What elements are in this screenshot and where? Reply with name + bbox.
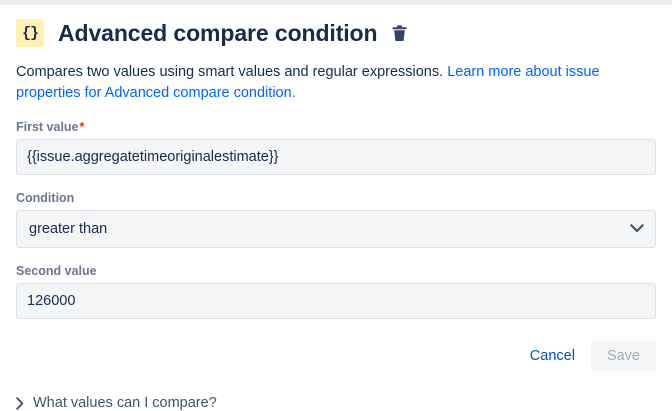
panel-header: {} Advanced compare condition [16,16,656,50]
save-button[interactable]: Save [591,341,656,371]
first-value-input-value: {{issue.aggregatetimeoriginalestimate}} [27,149,279,165]
first-value-field: First value* {{issue.aggregatetimeorigin… [16,120,656,175]
page-title: Advanced compare condition [58,20,377,47]
braces-glyph: {} [22,25,38,42]
condition-select[interactable]: greater than [16,210,656,248]
second-value-label: Second value [16,264,656,278]
second-value-input[interactable]: 126000 [16,283,656,319]
panel-description: Compares two values using smart values a… [16,62,656,104]
what-values-expander[interactable]: What values can I compare? [16,395,656,411]
condition-label: Condition [16,191,656,205]
description-text: Compares two values using smart values a… [16,64,447,80]
second-value-input-value: 126000 [27,293,75,309]
expander-label: What values can I compare? [33,395,217,411]
condition-select-wrapper: greater than [16,210,656,248]
condition-field: Condition greater than [16,191,656,248]
form-actions: Cancel Save [16,341,656,371]
first-value-label: First value* [16,120,656,134]
smart-value-braces-icon: {} [16,19,44,47]
cancel-button[interactable]: Cancel [524,341,581,371]
trash-icon[interactable] [390,23,408,43]
condition-selected-value: greater than [29,221,107,237]
advanced-compare-condition-panel: {} Advanced compare condition Compares t… [0,5,672,408]
first-value-input[interactable]: {{issue.aggregatetimeoriginalestimate}} [16,139,656,175]
second-value-field: Second value 126000 [16,264,656,319]
first-value-label-text: First value [16,120,79,134]
required-asterisk: * [80,120,85,134]
